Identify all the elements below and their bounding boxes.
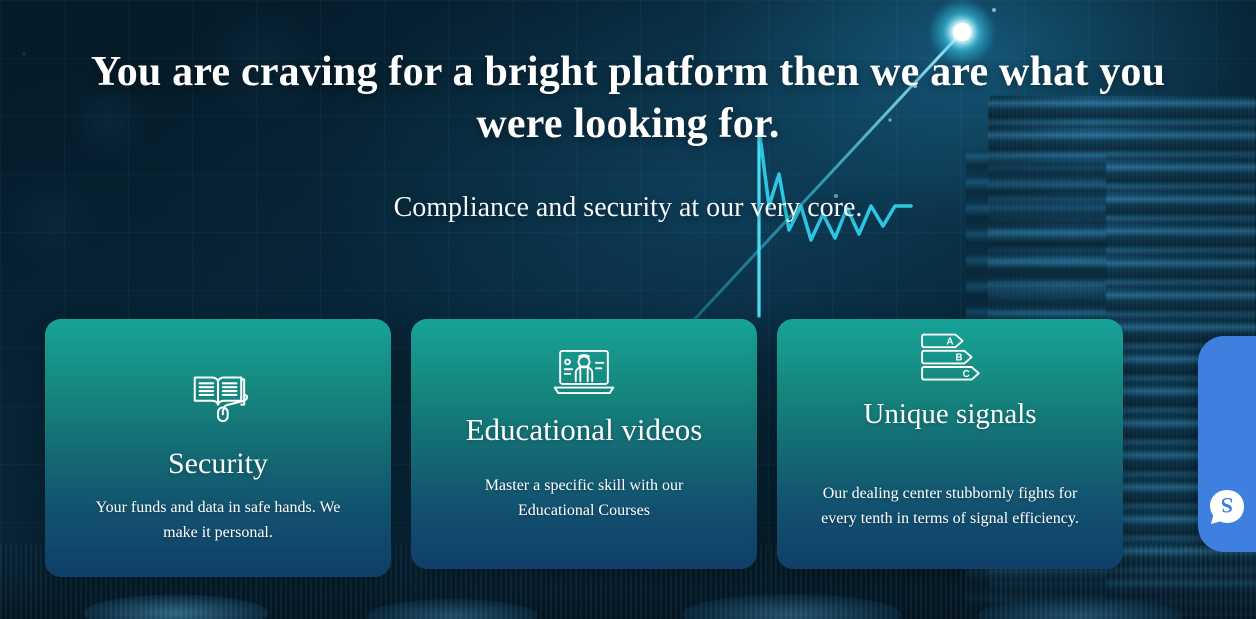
feature-card-list: Security Your funds and data in safe han… [45, 319, 1123, 577]
feature-card-description: Master a specific skill with our Educati… [449, 473, 719, 523]
signal-label-c: C [963, 369, 970, 380]
chat-widget-launcher[interactable]: S [1198, 336, 1256, 552]
page-title: You are craving for a bright platform th… [0, 46, 1256, 150]
book-mouse-icon [182, 357, 254, 429]
feature-card-educational-videos[interactable]: Educational videos Master a specific ski… [411, 319, 757, 569]
chat-bubble-s-logo-icon: S [1207, 488, 1247, 528]
feature-card-title: Security [168, 445, 268, 483]
feature-card-title: Educational videos [466, 411, 703, 449]
signal-bars-abc-icon: A B C [914, 327, 986, 389]
feature-card-title: Unique signals [863, 395, 1036, 433]
svg-text:S: S [1221, 493, 1233, 518]
hero-section: You are craving for a bright platform th… [0, 0, 1256, 619]
page-subtitle: Compliance and security at our very core… [0, 190, 1256, 226]
feature-card-unique-signals[interactable]: A B C Unique signals Our dealing center … [777, 319, 1123, 569]
feature-card-security[interactable]: Security Your funds and data in safe han… [45, 319, 391, 577]
signal-label-a: A [946, 337, 953, 348]
laptop-person-icon [548, 343, 620, 401]
signal-label-b: B [955, 353, 962, 364]
feature-card-description: Your funds and data in safe hands. We ma… [83, 495, 353, 545]
feature-card-description: Our dealing center stubbornly fights for… [815, 481, 1085, 531]
